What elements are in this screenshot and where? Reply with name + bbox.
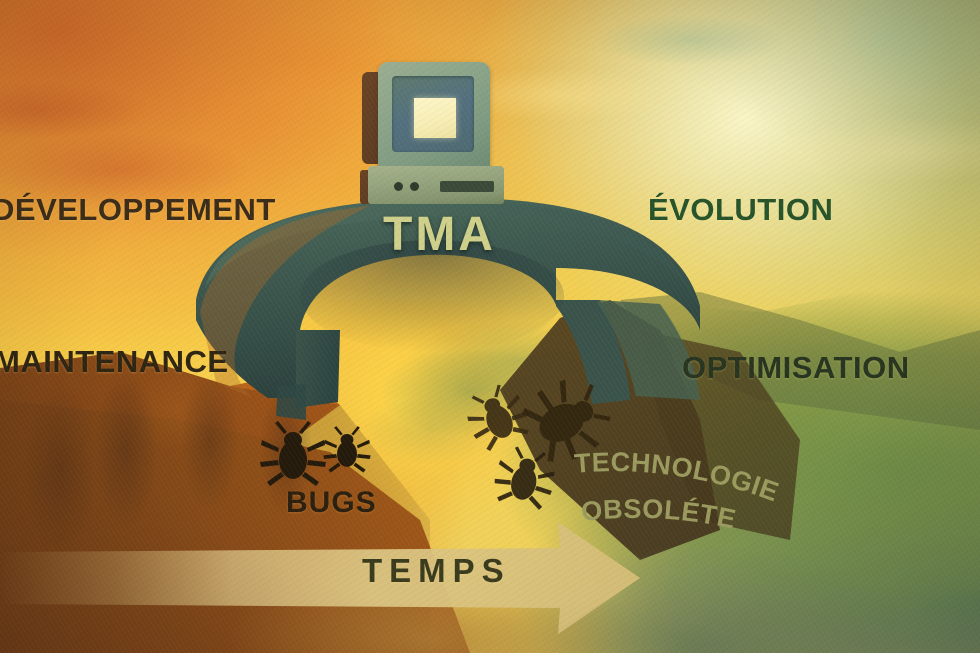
label-tma: TMA <box>383 207 496 262</box>
obsolete-textpath: OBSOLÉTE <box>580 494 739 535</box>
bug-icon <box>258 418 328 488</box>
bridge-footing-left <box>276 384 306 420</box>
label-technologie-line2: OBSOLÉTE <box>580 494 739 535</box>
label-maintenance: MAINTENANCE <box>0 344 229 380</box>
bug-icon <box>322 424 372 474</box>
label-optimisation: OPTIMISATION <box>682 350 910 386</box>
label-bugs: BUGS <box>286 486 377 520</box>
power-button-icon <box>394 182 403 191</box>
reset-button-icon <box>410 182 419 191</box>
arrow-shape <box>0 522 640 634</box>
vintage-computer <box>360 62 510 207</box>
bug-icon <box>488 440 562 514</box>
illustration-canvas: DÉVELOPPEMENT MAINTENANCE ÉVOLUTION OPTI… <box>0 0 980 653</box>
label-temps: TEMPS <box>362 552 511 590</box>
monitor-housing <box>378 62 490 172</box>
monitor-bezel <box>392 76 474 152</box>
label-technologie-obsolete: TECHNOLOGIE OBSOLÉTE <box>570 445 810 540</box>
monitor-screen <box>414 98 456 138</box>
label-evolution: ÉVOLUTION <box>648 192 833 228</box>
label-developpement: DÉVELOPPEMENT <box>0 192 276 228</box>
floppy-drive-slot-icon <box>440 181 494 192</box>
